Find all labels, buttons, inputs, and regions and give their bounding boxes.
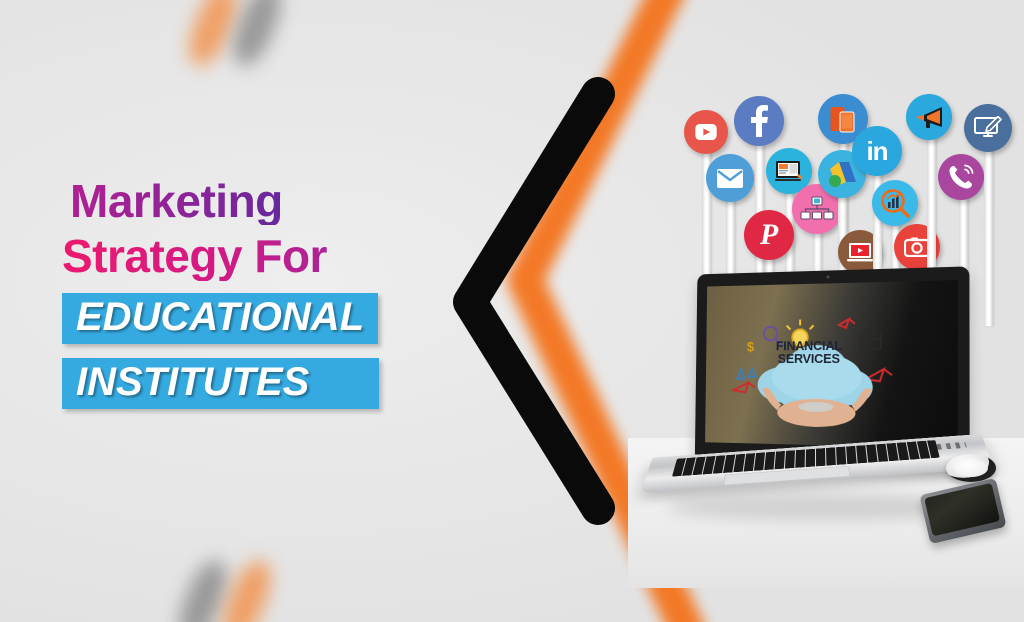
youtube-icon[interactable]	[684, 110, 728, 154]
headline-line-2: Strategy For	[62, 233, 462, 280]
screen-illustration: $	[725, 306, 922, 430]
facebook-icon[interactable]	[734, 96, 784, 146]
headline-line-1: Marketing	[62, 178, 462, 225]
pinterest-icon[interactable]: P	[744, 210, 794, 260]
seo-analytics-icon[interactable]	[872, 180, 918, 226]
chevron-black	[448, 80, 638, 520]
banner-canvas: Marketing Strategy For EDUCATIONAL INSTI…	[0, 0, 1024, 622]
laptop-ports	[936, 442, 967, 450]
headline-line-4: INSTITUTES	[62, 358, 379, 409]
viber-phone-icon[interactable]	[938, 154, 984, 200]
laptop-scene: $	[628, 258, 1024, 588]
laptop-lid: $	[695, 266, 970, 464]
megaphone-icon[interactable]	[906, 94, 952, 140]
headline-line-3: EDUCATIONAL	[62, 293, 378, 344]
screen-headline-line2: SERVICES	[752, 352, 867, 365]
wristwatch	[946, 454, 996, 482]
monitor-pen-icon[interactable]	[964, 104, 1012, 152]
linkedin-icon[interactable]: in	[852, 126, 902, 176]
webcam-dot	[826, 275, 829, 278]
email-icon[interactable]	[706, 154, 754, 202]
laptop-screen: $	[705, 280, 958, 449]
screen-headline: FINANCIAL SERVICES	[752, 339, 867, 366]
headline-block: Marketing Strategy For EDUCATIONAL INSTI…	[62, 178, 462, 409]
